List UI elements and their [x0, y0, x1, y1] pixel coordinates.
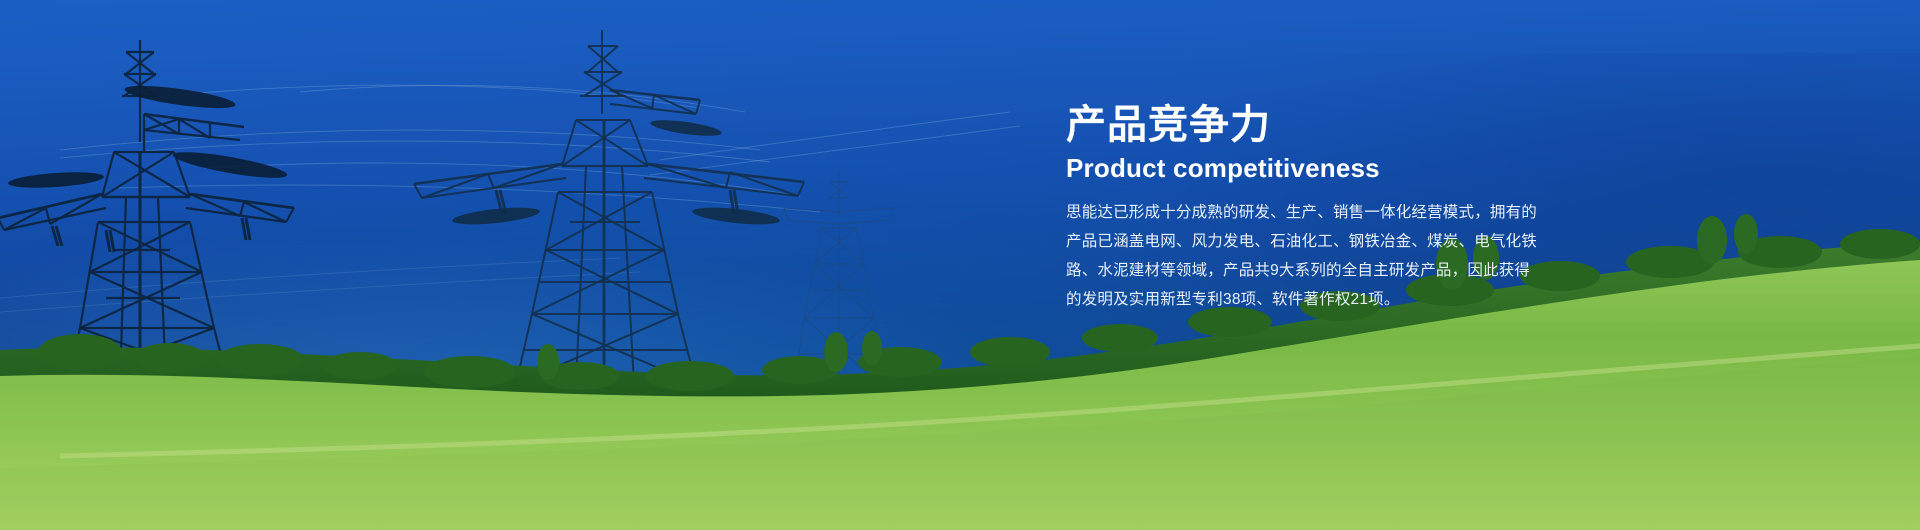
product-competitiveness-banner: 产品竞争力 Product competitiveness 思能达已形成十分成熟… — [0, 0, 1920, 530]
description-line: 的发明及实用新型专利38项、软件著作权21项。 — [1066, 285, 1486, 314]
description-line: 路、水泥建材等领域，产品共9大系列的全自主研发产品，因此获得 — [1066, 256, 1486, 285]
page-subtitle: Product competitiveness — [1066, 153, 1586, 184]
description-paragraph: 思能达已形成十分成熟的研发、生产、销售一体化经营模式，拥有的 产品已涵盖电网、风… — [1066, 198, 1486, 314]
grass-hill — [0, 200, 1920, 530]
page-title: 产品竞争力 — [1066, 102, 1586, 149]
banner-copy: 产品竞争力 Product competitiveness 思能达已形成十分成熟… — [1066, 102, 1586, 314]
description-line: 思能达已形成十分成熟的研发、生产、销售一体化经营模式，拥有的 — [1066, 198, 1486, 227]
description-line: 产品已涵盖电网、风力发电、石油化工、钢铁冶金、煤炭、电气化铁 — [1066, 227, 1486, 256]
